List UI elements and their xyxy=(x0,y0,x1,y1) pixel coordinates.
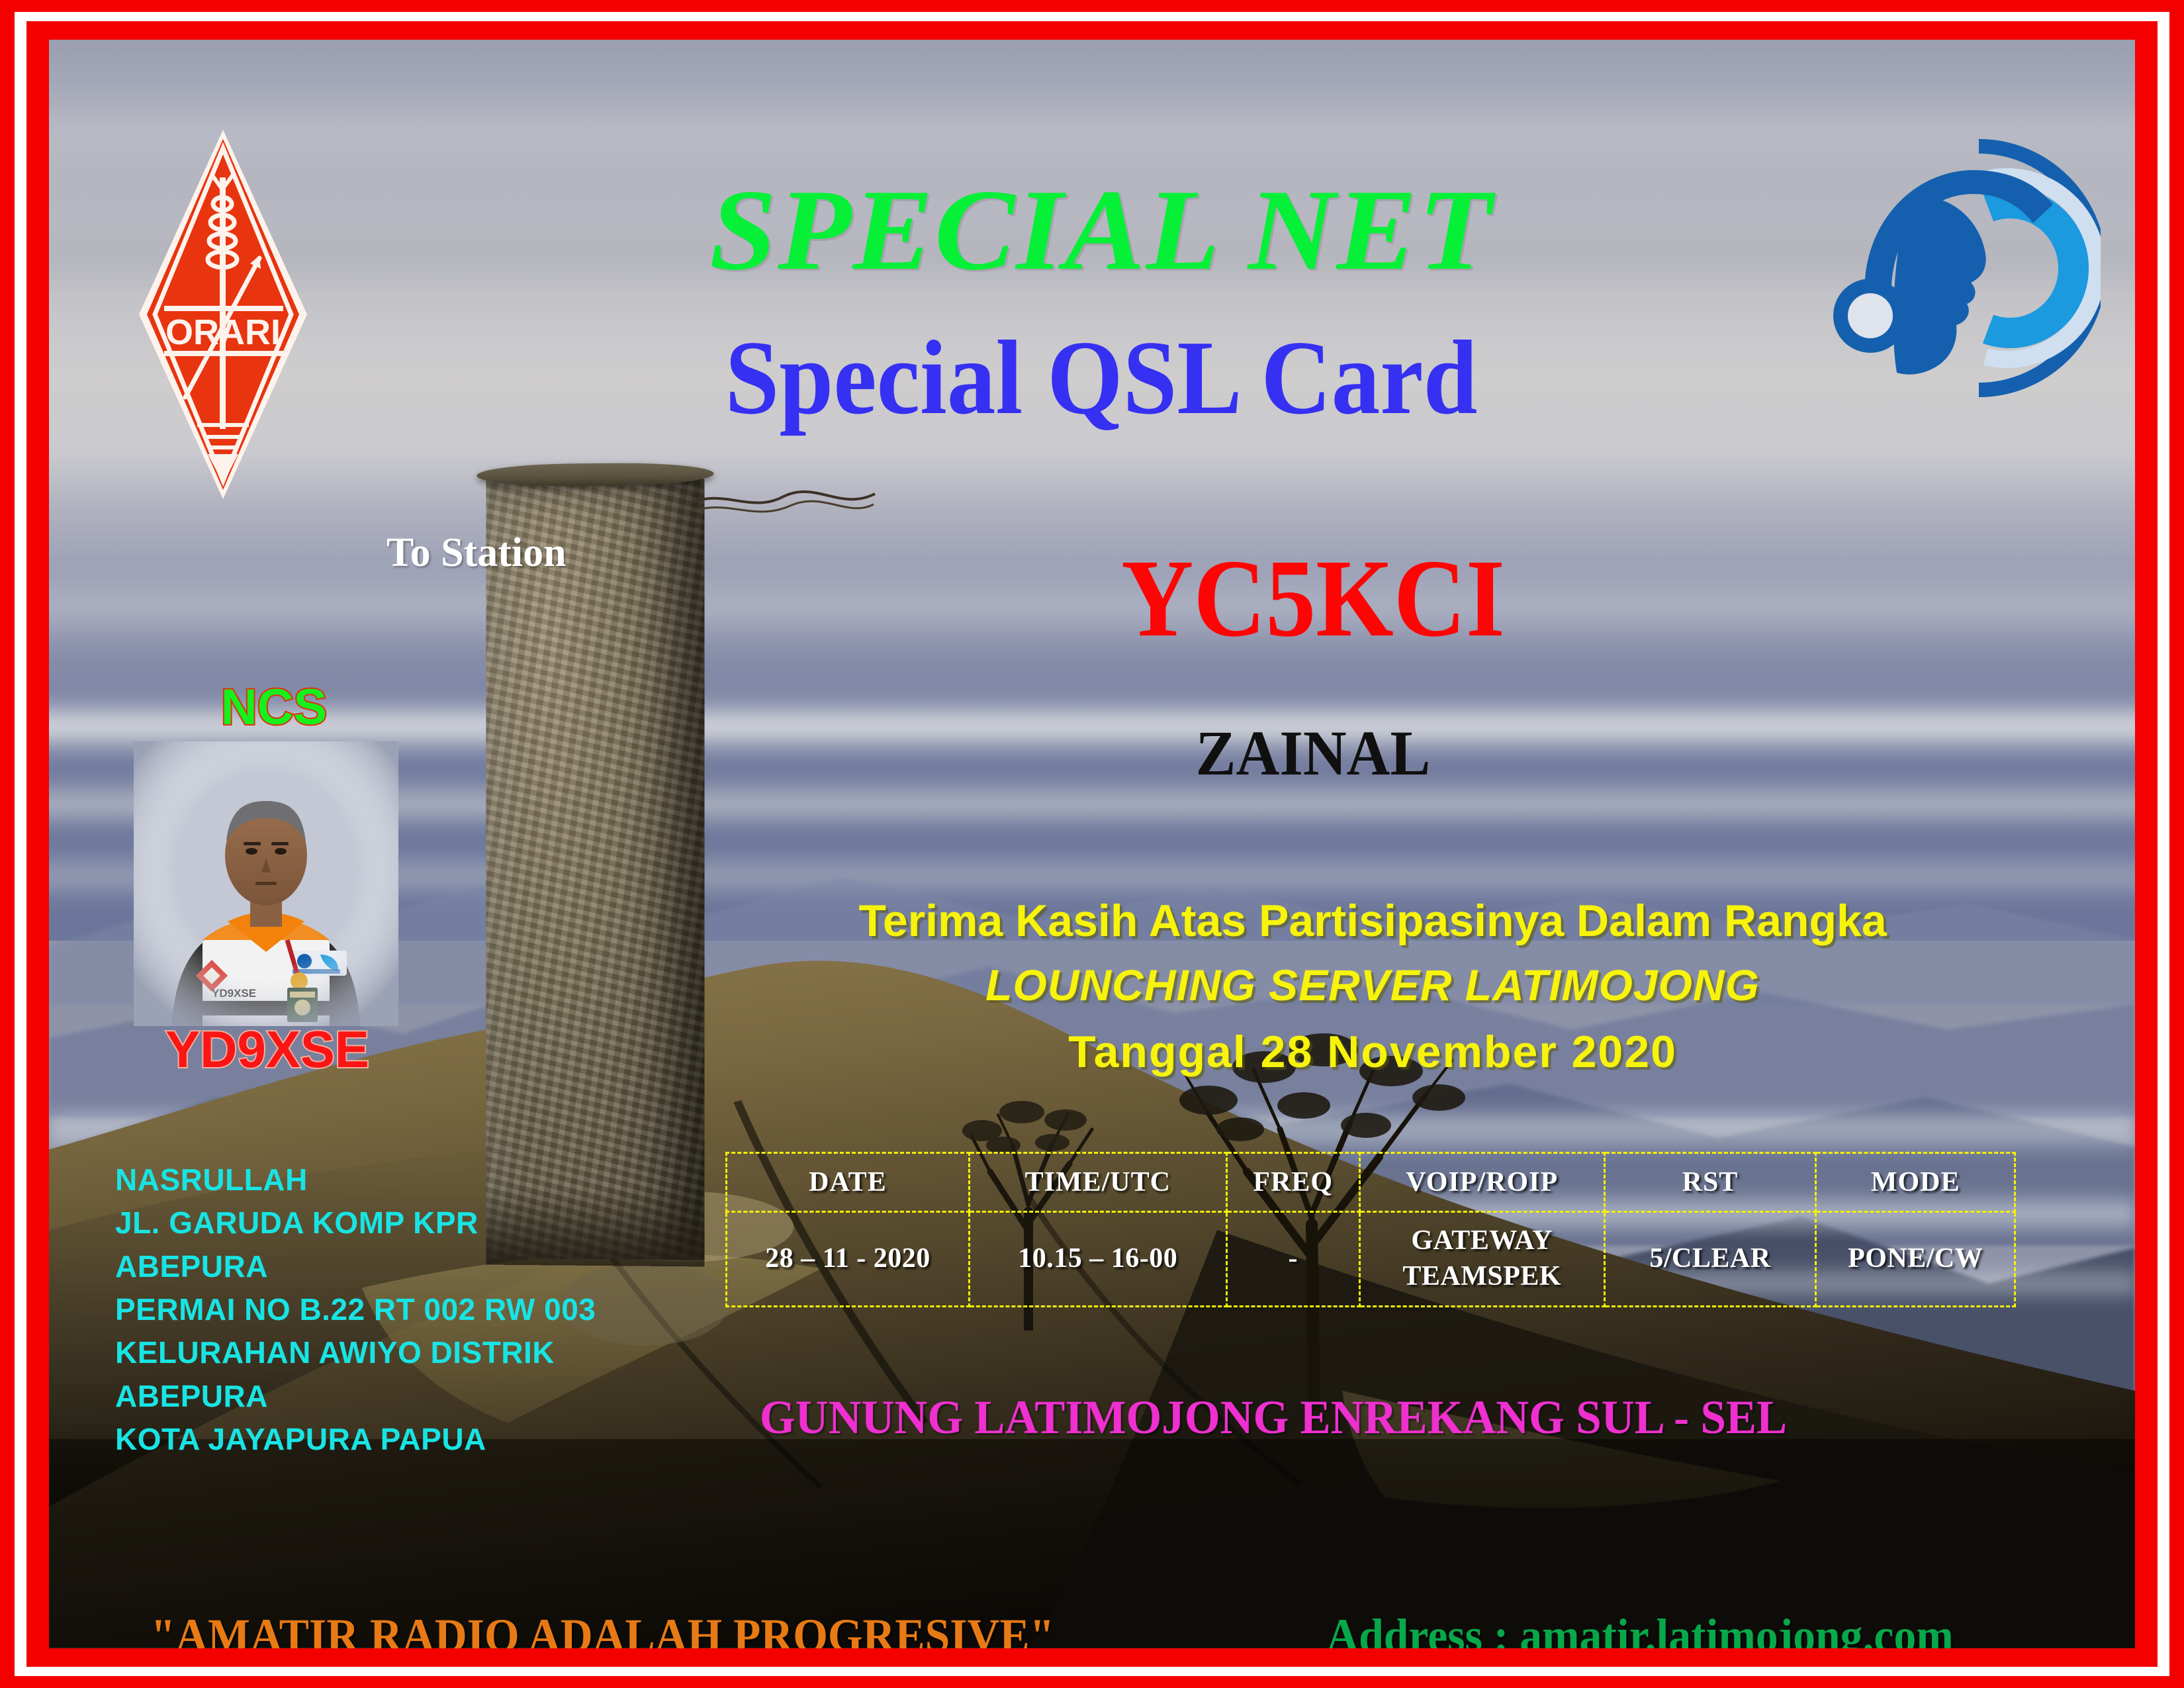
orari-logo: ORARI xyxy=(134,126,312,503)
footer-slogan: "AMATIR RADIO ADALAH PROGRESIVE" xyxy=(151,1609,1055,1648)
cell-rst: 5/CLEAR xyxy=(1604,1212,1816,1307)
location-caption: GUNUNG LATIMOJONG ENREKANG SUL - SEL xyxy=(581,1390,1966,1445)
qso-log-table: DATE TIME/UTC FREQ VOIP/ROIP RST MODE 28… xyxy=(725,1152,2016,1307)
address-line: NASRULLAH xyxy=(115,1158,645,1201)
white-border: ORARI xyxy=(15,12,2169,1676)
voip-headset-logo xyxy=(1823,136,2101,400)
qsl-card-frame: ORARI xyxy=(0,0,2184,1688)
orari-logo-text: ORARI xyxy=(165,312,281,352)
cell-time: 10.15 – 16-00 xyxy=(969,1212,1226,1307)
ncs-label: NCS xyxy=(128,679,420,736)
column-header-mode: MODE xyxy=(1816,1153,2015,1212)
inner-red-border: ORARI xyxy=(26,21,2158,1667)
page-title-special-net: SPECIAL NET xyxy=(447,172,1755,288)
thanks-line-2-event: LOUNCHING SERVER LATIMOJONG xyxy=(724,960,2021,1010)
column-header-voip: VOIP/ROIP xyxy=(1359,1153,1604,1212)
table-header-row: DATE TIME/UTC FREQ VOIP/ROIP RST MODE xyxy=(727,1153,2015,1212)
thanks-line-3-date: Tanggal 28 November 2020 xyxy=(724,1026,2021,1078)
address-line: KOTA JAYAPURA PAPUA xyxy=(115,1418,645,1461)
background-photograph: ORARI xyxy=(49,40,2135,1648)
address-line: ABEPURA xyxy=(115,1375,645,1418)
postal-address-block: NASRULLAH JL. GARUDA KOMP KPR ABEPURA PE… xyxy=(115,1158,645,1461)
table-row: 28 – 11 - 2020 10.15 – 16-00 - GATEWAY T… xyxy=(727,1212,2015,1307)
content-overlay: ORARI xyxy=(49,40,2135,1648)
page-subtitle-qsl-card: Special QSL Card xyxy=(523,324,1680,430)
operator-photo: YD9XSE xyxy=(134,741,398,1026)
address-line: JL. GARUDA KOMP KPR xyxy=(115,1201,645,1244)
cell-voip-line2: TEAMSPEK xyxy=(1361,1259,1604,1295)
station-callsign: YC5KCI xyxy=(938,543,1688,654)
cell-freq: - xyxy=(1226,1212,1359,1307)
thanks-line-1: Terima Kasih Atas Partisipasinya Dalam R… xyxy=(724,895,2021,947)
cell-date: 28 – 11 - 2020 xyxy=(727,1212,970,1307)
address-line: ABEPURA xyxy=(115,1245,645,1288)
cell-voip: GATEWAY TEAMSPEK xyxy=(1359,1212,1604,1307)
to-station-label: To Station xyxy=(387,530,567,577)
operator-name: ZAINAL xyxy=(917,722,1709,785)
column-header-freq: FREQ xyxy=(1226,1153,1359,1212)
footer-web-address: Address : amatir.latimojong.com xyxy=(1326,1609,1953,1648)
cell-voip-line1: GATEWAY xyxy=(1361,1223,1604,1259)
column-header-time: TIME/UTC xyxy=(969,1153,1226,1212)
address-line: PERMAI NO B.22 RT 002 RW 003 xyxy=(115,1288,645,1331)
address-line: KELURAHAN AWIYO DISTRIK xyxy=(115,1331,645,1374)
ncs-callsign: YD9XSE xyxy=(115,1019,420,1080)
column-header-date: DATE xyxy=(727,1153,970,1212)
cell-mode: PONE/CW xyxy=(1816,1212,2015,1307)
column-header-rst: RST xyxy=(1604,1153,1816,1212)
